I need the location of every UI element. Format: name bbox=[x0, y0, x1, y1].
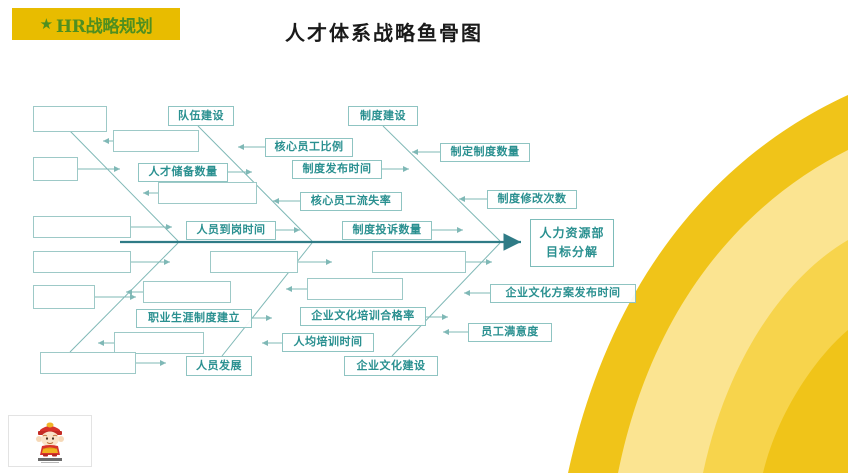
blank-box[interactable] bbox=[33, 157, 78, 181]
node-he-xin-yuan-gong-bi-li[interactable]: 核心员工比例 bbox=[265, 138, 353, 157]
mascot-icon bbox=[27, 419, 73, 463]
node-dui-wu-jian-she[interactable]: 队伍建设 bbox=[168, 106, 234, 126]
node-ren-yuan-fa-zhan[interactable]: 人员发展 bbox=[186, 356, 252, 376]
node-yuan-gong-man-yi-du[interactable]: 员工满意度 bbox=[468, 323, 552, 342]
node-zhi-du-fa-bu-shi-jian[interactable]: 制度发布时间 bbox=[292, 160, 382, 179]
node-zhi-ye-sheng-ya-zhi-du-jian-li[interactable]: 职业生涯制度建立 bbox=[136, 309, 252, 328]
blank-box[interactable] bbox=[372, 251, 466, 273]
result-line-2: 目标分解 bbox=[546, 246, 598, 259]
node-qi-ye-wen-hua-fang-an-fa-bu-shi-jian[interactable]: 企业文化方案发布时间 bbox=[490, 284, 636, 303]
blank-box[interactable] bbox=[33, 251, 131, 273]
node-ren-jun-pei-xun-shi-jian[interactable]: 人均培训时间 bbox=[282, 333, 374, 352]
blank-box[interactable] bbox=[33, 216, 131, 238]
blank-box[interactable] bbox=[210, 251, 298, 273]
blank-box[interactable] bbox=[33, 106, 107, 132]
node-zhi-du-jian-she[interactable]: 制度建设 bbox=[348, 106, 418, 126]
blank-box[interactable] bbox=[33, 285, 95, 309]
node-ren-cai-chu-bei-shu-liang[interactable]: 人才储备数量 bbox=[138, 163, 228, 182]
node-zhi-ding-zhi-du-shu-liang[interactable]: 制定制度数量 bbox=[440, 143, 530, 162]
blank-box[interactable] bbox=[307, 278, 403, 300]
blank-box[interactable] bbox=[143, 281, 231, 303]
slide-canvas: ★ HR战略规划 人才体系战略鱼骨图 bbox=[0, 0, 848, 473]
blank-box[interactable] bbox=[113, 130, 199, 152]
node-he-xin-yuan-gong-liu-shi-lv[interactable]: 核心员工流失率 bbox=[300, 192, 402, 211]
blank-box[interactable] bbox=[40, 352, 136, 374]
blank-box[interactable] bbox=[114, 332, 204, 354]
node-ren-yuan-dao-gang-shi-jian[interactable]: 人员到岗时间 bbox=[186, 221, 276, 240]
node-zhi-du-xiu-gai-ci-shu[interactable]: 制度修改次数 bbox=[487, 190, 577, 209]
blank-box[interactable] bbox=[158, 182, 257, 204]
node-qi-ye-wen-hua-jian-she[interactable]: 企业文化建设 bbox=[344, 356, 438, 376]
node-zhi-du-tou-su-shu-liang[interactable]: 制度投诉数量 bbox=[342, 221, 432, 240]
result-box[interactable]: 人力资源部 目标分解 bbox=[530, 219, 614, 267]
node-qi-ye-wen-hua-pei-xun-he-ge-lv[interactable]: 企业文化培训合格率 bbox=[300, 307, 426, 326]
partner-logo bbox=[8, 415, 92, 467]
result-line-1: 人力资源部 bbox=[539, 227, 604, 240]
